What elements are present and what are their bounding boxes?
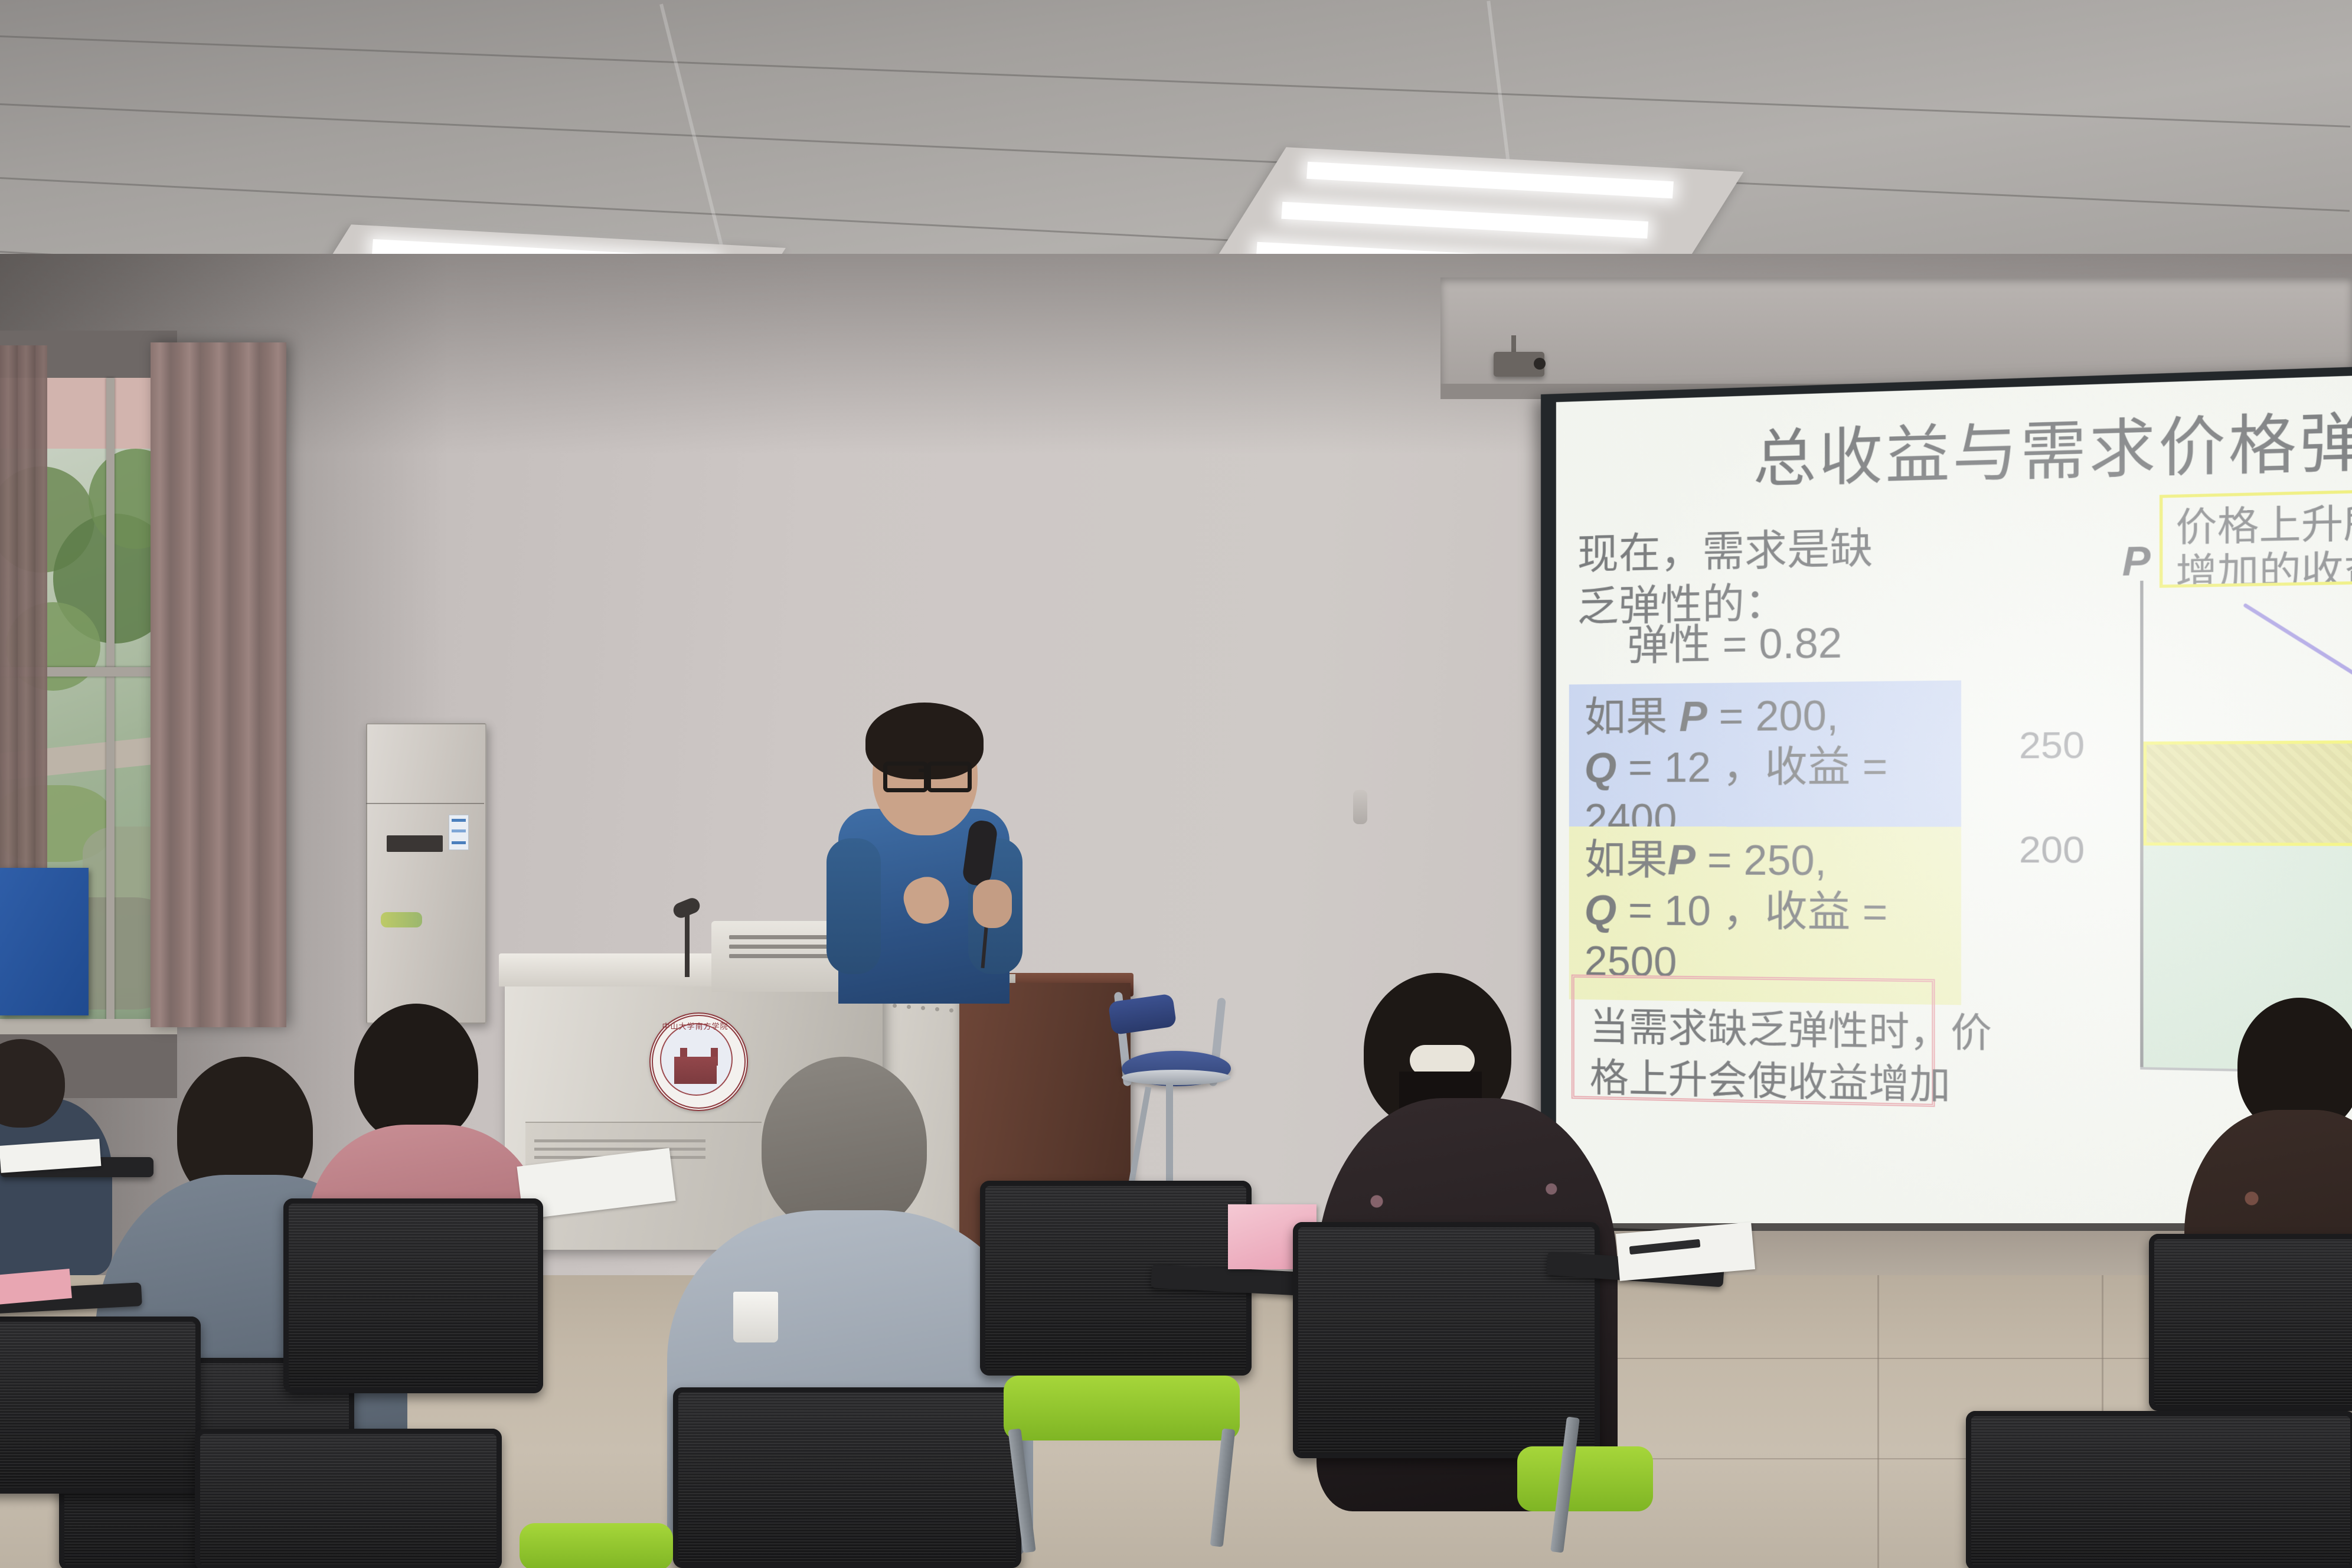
wall-sensor-icon [1353,790,1367,824]
podium-grill [534,1139,705,1142]
chair-cushion [1517,1446,1653,1511]
chart-tick-250: 250 [2019,723,2085,767]
podium-grill [534,1148,705,1151]
cardboard-box [0,868,89,1015]
air-conditioner-label [449,815,469,850]
projector-lens-icon [1534,358,1546,370]
stool-seat-rim [1122,1070,1231,1085]
chart-revenue-gain-area [2144,740,2352,846]
chair-back-rim [673,1387,1021,1568]
chart-demand-curve [2243,603,2352,720]
chair-back-rim [2149,1234,2352,1411]
eyeglasses-bridge [919,769,929,772]
eyeglasses-icon [927,762,972,792]
window-mullion [106,378,115,1027]
microphone-stand [685,912,690,977]
air-conditioner-vent [387,835,443,852]
stool-leg [1166,1083,1173,1190]
chair-back-rim [0,1317,201,1494]
classroom-scene: 总收益与需求价格弹 现在，需求是缺 乏弹性的： 弹性 = 0.82 如果 P =… [0,0,2352,1568]
slide-conclusion-box: 当需求缺乏弹性时，价 格上升会使收益增加 [1572,975,1935,1107]
box-label [48,897,70,998]
floor-tile-line [1877,1275,1879,1568]
emblem-text: 中山大学南方学院 [649,1020,741,1031]
emblem-building [674,1057,717,1084]
curtain-right[interactable] [151,342,286,1027]
air-conditioner-panel [366,723,484,804]
chart-y-axis-label: P [2122,537,2151,585]
attendee-head [354,1004,478,1142]
paper-cup [733,1292,778,1342]
air-conditioner-sticker [381,912,422,927]
slide-title: 总收益与需求价格弹 [1753,389,2352,499]
chair-cushion [1004,1376,1240,1440]
chair-back-rim [1966,1411,2352,1568]
presenter-hand [973,880,1012,928]
chair-cushion [520,1523,673,1568]
attendee-head [762,1057,927,1234]
projection-screen: 总收益与需求价格弹 现在，需求是缺 乏弹性的： 弹性 = 0.82 如果 P =… [1556,374,2352,1254]
chart-tick-200: 200 [2019,828,2085,872]
presenter-arm [827,838,881,974]
chart-y-axis [2140,581,2143,1070]
chair-back-rim [283,1198,543,1393]
eyeglasses-icon [883,762,928,792]
slide-elasticity-value: 弹性 = 0.82 [1627,616,1842,672]
chair-back-rim [195,1429,502,1568]
